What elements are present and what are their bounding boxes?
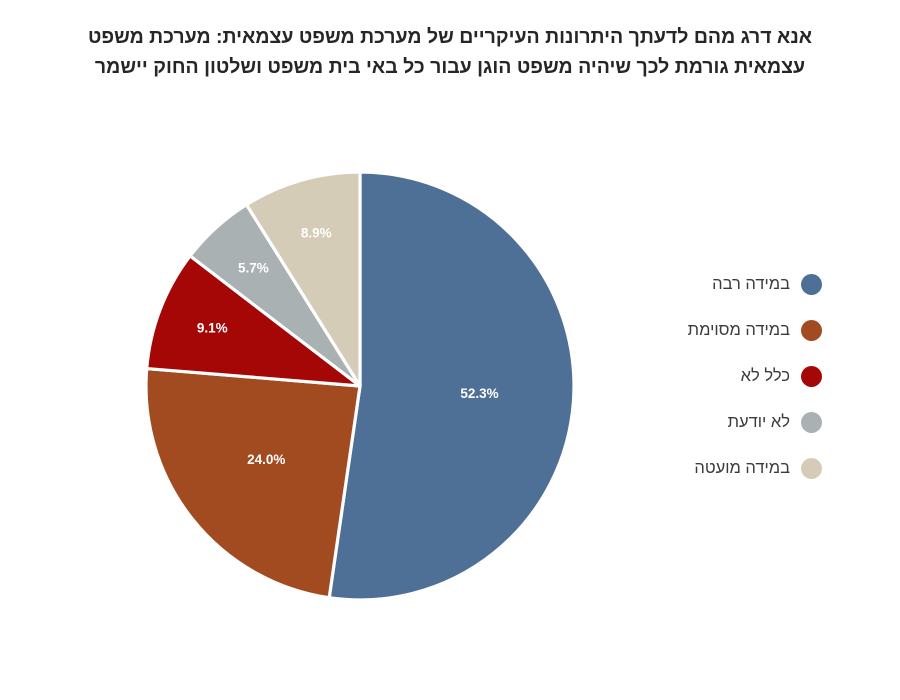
pie-slice-label: 24.0% xyxy=(247,452,285,467)
pie-slice-label: 8.9% xyxy=(301,225,332,240)
legend-item-label: במידה מועטה xyxy=(694,458,790,479)
legend-swatch-icon xyxy=(801,412,822,433)
legend: במידה רבהבמידה מסוימתכלל לאלא יודעתבמידה… xyxy=(592,272,822,481)
legend-item[interactable]: במידה רבה xyxy=(592,272,822,297)
pie-slice-group xyxy=(146,172,574,600)
legend-item[interactable]: כלל לא xyxy=(592,364,822,389)
pie-slice[interactable] xyxy=(146,369,360,598)
legend-swatch-icon xyxy=(801,458,822,479)
plot-area: 52.3%24.0%9.1%5.7%8.9% xyxy=(120,140,620,640)
legend-item-label: במידה רבה xyxy=(712,274,790,295)
legend-item[interactable]: לא יודעת xyxy=(592,410,822,435)
page-title-line-1: אנא דרג מהם לדעתך היתרונות העיקריים של מ… xyxy=(28,22,872,52)
legend-swatch-icon xyxy=(801,366,822,387)
pie-slice-label: 9.1% xyxy=(197,321,228,336)
page-title: אנא דרג מהם לדעתך היתרונות העיקריים של מ… xyxy=(28,22,872,82)
pie-slice-label: 5.7% xyxy=(238,260,269,275)
legend-swatch-icon xyxy=(801,320,822,341)
pie-chart-figure: אנא דרג מהם לדעתך היתרונות העיקריים של מ… xyxy=(0,0,900,700)
page-title-line-2: עצמאית גורמת לכך שיהיה משפט הוגן עבור כל… xyxy=(28,52,872,82)
legend-item-label: לא יודעת xyxy=(728,412,790,433)
legend-item-label: כלל לא xyxy=(741,366,790,387)
pie-svg: 52.3%24.0%9.1%5.7%8.9% xyxy=(120,140,620,640)
legend-item-label: במידה מסוימת xyxy=(688,320,790,341)
legend-item[interactable]: במידה מסוימת xyxy=(592,318,822,343)
legend-item[interactable]: במידה מועטה xyxy=(592,456,822,481)
pie-slice[interactable] xyxy=(329,172,574,600)
pie-slice-label: 52.3% xyxy=(460,386,498,401)
legend-swatch-icon xyxy=(801,274,822,295)
